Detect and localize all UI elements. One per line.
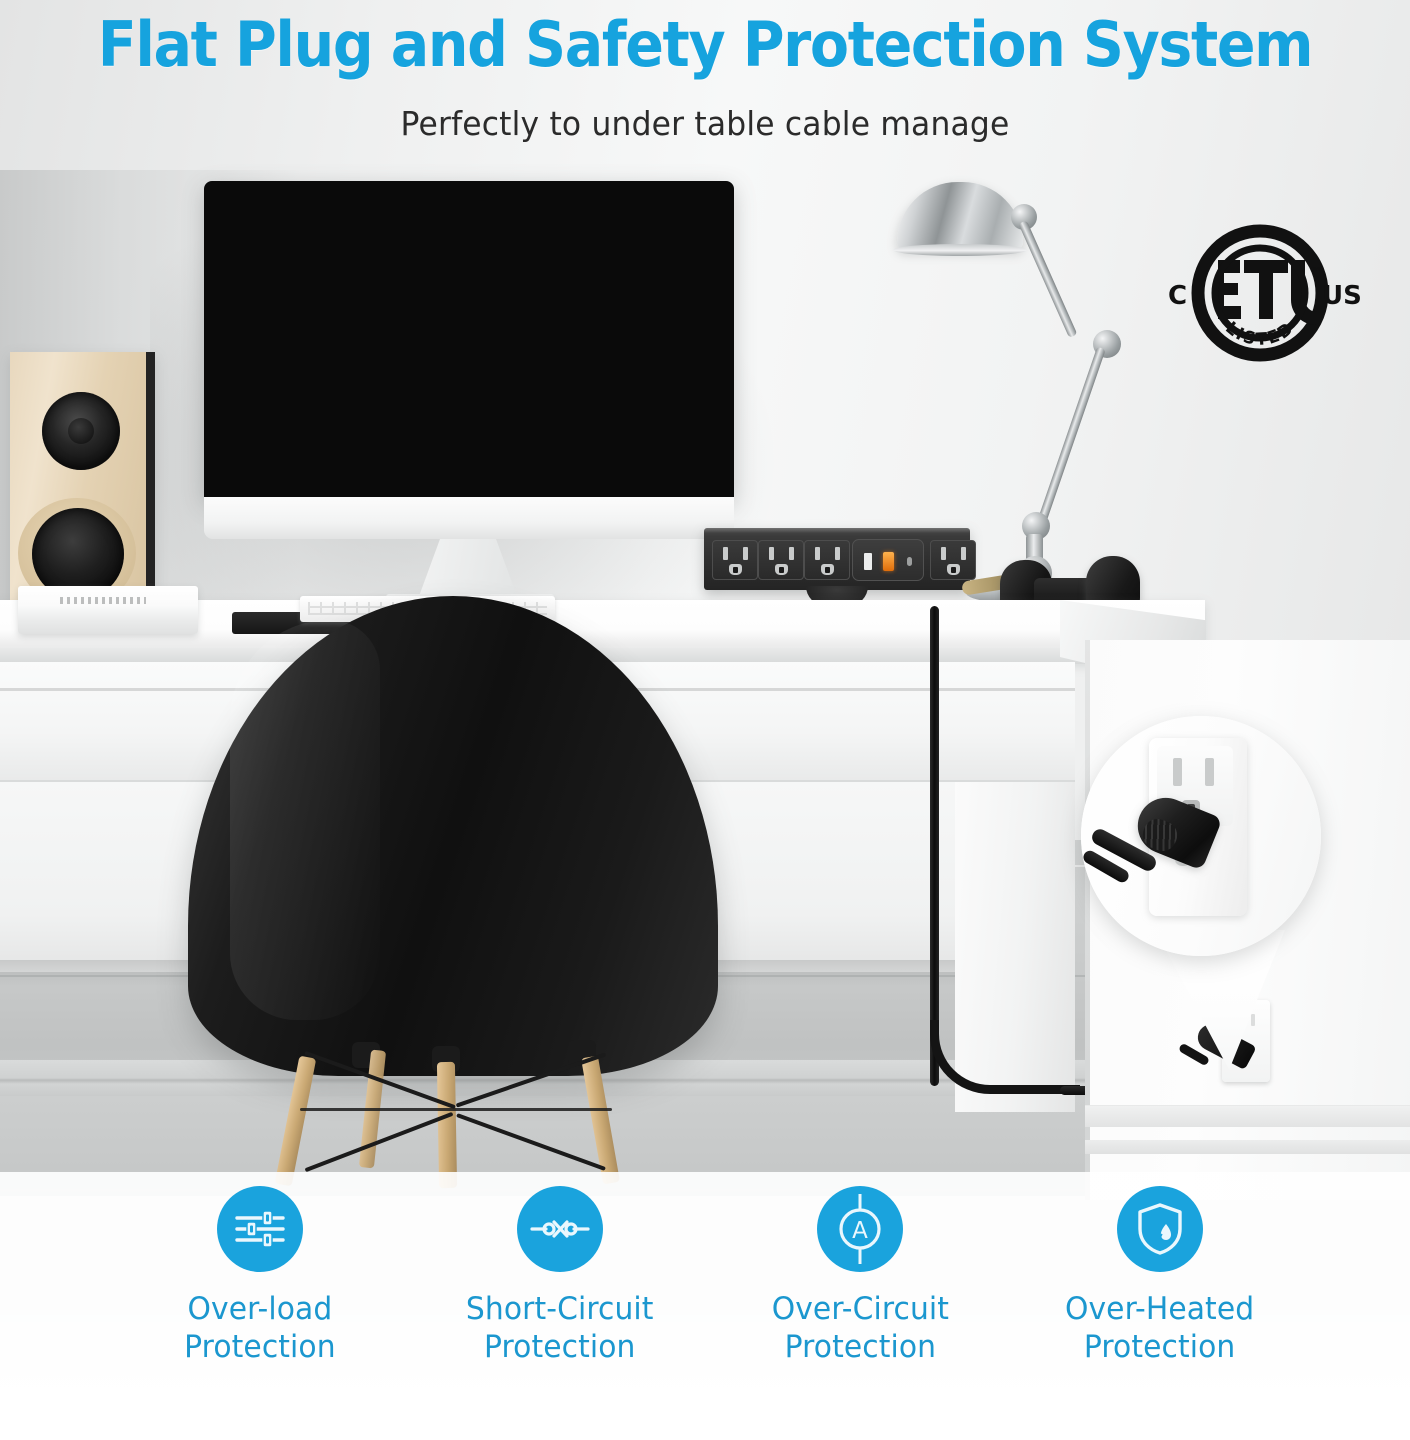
usb-c-port-icon (907, 557, 912, 566)
speaker-tweeter (42, 392, 120, 470)
feature-label-line2: Protection (466, 1328, 654, 1366)
usb-port-panel (852, 539, 924, 581)
feature-over-circuit: A Over-Circuit Protection (720, 1186, 1000, 1367)
outlet-ground-pin (775, 564, 788, 575)
feature-label: Over-Circuit Protection (771, 1290, 948, 1367)
feature-short-circuit: Short-Circuit Protection (420, 1186, 700, 1367)
callout-outlet-slot-right (1205, 758, 1214, 786)
desk-lamp-shade-rim (893, 244, 1027, 256)
header: Flat Plug and Safety Protection System P… (0, 0, 1410, 170)
ac-outlet-3 (804, 540, 850, 580)
over-circuit-icon: A (817, 1186, 903, 1272)
outlet-slot-left (815, 547, 820, 560)
etl-listed-badge: LISTED ™ C US (1160, 220, 1360, 370)
outlet-ground-pin (821, 564, 834, 575)
book-stack-label (60, 597, 146, 604)
monitor-screen (204, 181, 734, 499)
book-stack (18, 586, 198, 634)
etl-c-mark: C (1168, 281, 1187, 311)
outlet-slot-right (743, 547, 748, 560)
svg-text:A: A (852, 1218, 868, 1244)
power-strip-highlight (704, 528, 970, 533)
callout-outlet-slot-left (1173, 758, 1182, 786)
ac-outlet-2 (758, 540, 804, 580)
outlet-slot-right (961, 547, 966, 560)
chair-leg (437, 1062, 457, 1188)
office-chair-highlight (230, 620, 380, 1020)
usb-a-port-icon (864, 553, 872, 570)
feature-label-line1: Over-Circuit (771, 1290, 948, 1328)
page-subtitle: Perfectly to under table cable manage (35, 104, 1375, 143)
ac-outlet-4 (930, 540, 976, 580)
outlet-slot-right (835, 547, 840, 560)
outlet-ground-pin (729, 564, 742, 575)
page-title: Flat Plug and Safety Protection System (56, 12, 1353, 77)
over-heated-icon (1117, 1186, 1203, 1272)
over-load-icon (217, 1186, 303, 1272)
outlet-slot-left (723, 547, 728, 560)
outlet-ground-pin (947, 564, 960, 575)
feature-over-load: Over-load Protection (120, 1186, 400, 1367)
ac-outlet-1 (712, 540, 758, 580)
product-marketing-image: Flat Plug and Safety Protection System P… (0, 0, 1410, 1440)
feature-label-line2: Protection (1065, 1328, 1254, 1366)
short-circuit-icon (517, 1186, 603, 1272)
power-strip (704, 528, 970, 590)
etl-us-mark: US (1322, 281, 1360, 311)
etl-trademark: ™ (1311, 265, 1322, 278)
outlet-slot-left (769, 547, 774, 560)
chair-wire-brace (300, 1108, 612, 1111)
usb-a-quick-charge-port-icon (883, 552, 894, 571)
feature-label: Short-Circuit Protection (466, 1290, 654, 1367)
right-wall-baseboard-lower (1085, 1140, 1410, 1154)
feature-list: Over-load Protection (120, 1186, 1300, 1430)
feature-label-line1: Over-load (184, 1290, 336, 1328)
outlet-slot-left (941, 547, 946, 560)
feature-over-heated: Over-Heated Protection (1020, 1186, 1300, 1367)
outlet-slot-right (789, 547, 794, 560)
wall-outlet-slot-right (1251, 1014, 1255, 1026)
feature-label-line1: Over-Heated (1065, 1290, 1254, 1328)
power-cable-vertical (930, 606, 939, 1086)
feature-label-line2: Protection (184, 1328, 336, 1366)
magnifier-callout (1081, 716, 1321, 956)
right-wall-baseboard-upper (1085, 1105, 1410, 1127)
feature-label-line2: Protection (771, 1328, 948, 1366)
feature-label-line1: Short-Circuit (466, 1290, 654, 1328)
feature-label: Over-load Protection (184, 1290, 336, 1367)
feature-bar: Over-load Protection (0, 1172, 1410, 1440)
feature-label: Over-Heated Protection (1065, 1290, 1254, 1367)
monitor-chin (204, 497, 734, 539)
